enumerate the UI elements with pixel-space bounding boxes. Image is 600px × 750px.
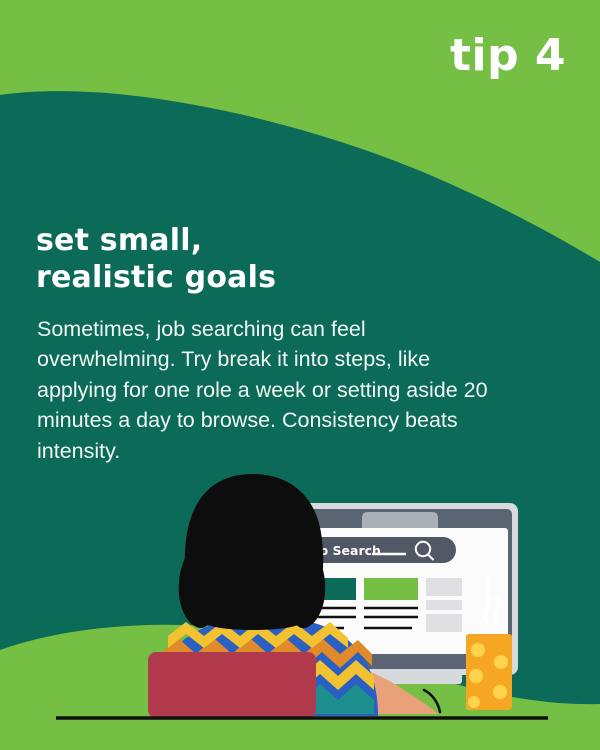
mug-dot — [493, 685, 507, 699]
browser-tab — [362, 512, 438, 528]
body-paragraph: Sometimes, job searching can feel overwh… — [37, 314, 505, 467]
result-card-green[interactable] — [364, 578, 418, 600]
mug-dot — [494, 655, 508, 669]
hair-silhouette — [185, 474, 323, 630]
tip-card: Job Search — [0, 0, 600, 750]
laptop-lid — [148, 652, 316, 718]
result-card-gray-1[interactable] — [426, 578, 462, 596]
page-title: set small, realistic goals — [36, 223, 276, 296]
mug-dot — [468, 696, 480, 708]
result-card-gray-3[interactable] — [426, 614, 462, 632]
result-card-gray-2[interactable] — [426, 600, 462, 610]
tip-badge: tip 4 — [450, 34, 566, 78]
mug-dot — [471, 643, 485, 657]
mug-dot — [469, 669, 483, 683]
